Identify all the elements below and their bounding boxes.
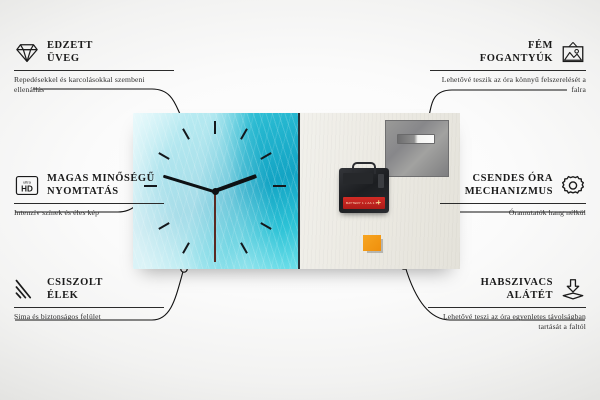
- clock-center-cap: [212, 188, 219, 195]
- clock-tick: [260, 222, 271, 230]
- feature-divider: [440, 203, 586, 204]
- feature-divider: [14, 307, 164, 308]
- battery-label-text: BATTERY 1 x AA 1.5V: [343, 202, 380, 205]
- clock-mechanism: BATTERY 1 x AA 1.5V +: [339, 168, 389, 213]
- feature-callout-polished-edges: CSISZOLT ÉLEK Sima és biztonságos felüle…: [14, 277, 164, 322]
- foam-pad: [363, 235, 381, 251]
- feature-description: Óramutatók hang nélkül: [440, 208, 586, 219]
- feature-description: Sima és biztonságos felület: [14, 312, 164, 323]
- feature-title: CSENDES ÓRA MECHANIZMUS: [465, 173, 553, 199]
- feature-callout-hd-print: ultra HD MAGAS MINŐSÉGŰ NYOMTATÁS Intenz…: [14, 173, 164, 218]
- clock-tick: [240, 242, 248, 253]
- feature-title: HABSZIVACS ALÁTÉT: [481, 277, 553, 303]
- feature-header: CSISZOLT ÉLEK: [14, 277, 164, 303]
- mechanism-panel: [343, 173, 373, 184]
- feature-title: CSISZOLT ÉLEK: [47, 277, 103, 303]
- feature-divider: [428, 307, 586, 308]
- feature-title: FÉM FOGANTYÚK: [480, 40, 553, 66]
- feature-header: CSENDES ÓRA MECHANIZMUS: [440, 173, 586, 199]
- diamond-icon: [14, 41, 40, 64]
- feature-callout-metal-hangers: FÉM FOGANTYÚK Lehetővé teszik az óra kön…: [430, 40, 586, 96]
- battery-label: BATTERY 1 x AA 1.5V +: [343, 197, 385, 209]
- feature-callout-silent-mechanism: CSENDES ÓRA MECHANIZMUS Óramutatók hang …: [440, 173, 586, 218]
- feature-header: FÉM FOGANTYÚK: [430, 40, 586, 66]
- clock-second-hand: [214, 191, 216, 253]
- gear-icon: [560, 174, 586, 197]
- feature-description: Repedésekkel és karcolásokkal szembeni e…: [14, 75, 174, 97]
- infographic-stage: BATTERY 1 x AA 1.5V + EDZETT ÜVEG Rep: [0, 0, 600, 400]
- feature-callout-tempered-glass: EDZETT ÜVEG Repedésekkel és karcolásokka…: [14, 40, 174, 96]
- clock-tick: [273, 185, 286, 187]
- feature-divider: [14, 203, 164, 204]
- feature-title: MAGAS MINŐSÉGŰ NYOMTATÁS: [47, 173, 155, 199]
- feature-divider: [430, 70, 586, 71]
- feature-title: EDZETT ÜVEG: [47, 40, 93, 66]
- ultra-hd-icon: ultra HD: [14, 174, 40, 197]
- clock-minute-hand: [163, 174, 216, 193]
- clock-tick: [240, 128, 248, 139]
- clock-hour-hand: [214, 174, 257, 193]
- clock-back-panel: BATTERY 1 x AA 1.5V +: [298, 113, 460, 269]
- metal-hanger-plate: [385, 120, 449, 177]
- feature-description: Intenzív színek és éles kép: [14, 208, 164, 219]
- clock-tick: [214, 121, 216, 134]
- feature-description: Lehetővé teszi az óra egyenletes távolsá…: [428, 312, 586, 334]
- feature-header: HABSZIVACS ALÁTÉT: [428, 277, 586, 303]
- mechanism-adjust-knob: [378, 174, 384, 188]
- clock-tick: [158, 152, 169, 160]
- feature-divider: [14, 70, 174, 71]
- battery-plus-sign: +: [376, 199, 381, 207]
- picture-hanger-icon: [560, 41, 586, 64]
- feature-header: EDZETT ÜVEG: [14, 40, 174, 66]
- feature-callout-foam-pad: HABSZIVACS ALÁTÉT Lehetővé teszi az óra …: [428, 277, 586, 333]
- feature-description: Lehetővé teszik az óra könnyű felszerelé…: [430, 75, 586, 97]
- foam-pad-icon: [560, 278, 586, 301]
- clock-tick: [182, 128, 190, 139]
- svg-text:ultra: ultra: [23, 180, 32, 185]
- clock-tick: [260, 152, 271, 160]
- bevelled-edge-icon: [14, 278, 40, 301]
- clock-tick: [182, 242, 190, 253]
- hanger-slot: [397, 134, 435, 144]
- clock-tick: [158, 222, 169, 230]
- feature-header: ultra HD MAGAS MINŐSÉGŰ NYOMTATÁS: [14, 173, 164, 199]
- svg-text:HD: HD: [21, 185, 33, 194]
- product-image: BATTERY 1 x AA 1.5V +: [133, 113, 458, 269]
